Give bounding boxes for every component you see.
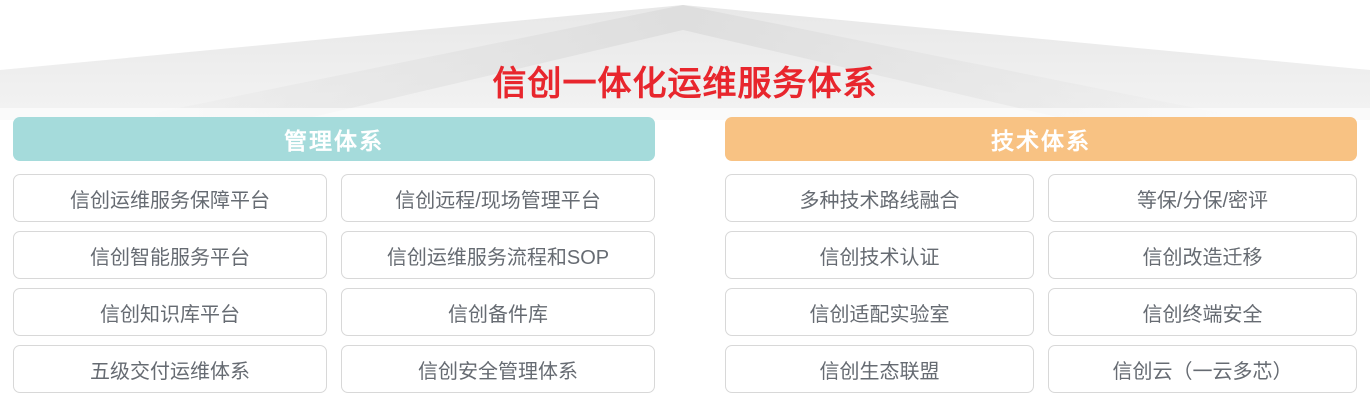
cell-item[interactable]: 信创运维服务保障平台 xyxy=(13,174,327,222)
cell-item[interactable]: 信创远程/现场管理平台 xyxy=(341,174,655,222)
cell-item[interactable]: 信创云（一云多芯） xyxy=(1048,345,1357,393)
diagram-canvas: 信创一体化运维服务体系 管理体系 信创运维服务保障平台 信创远程/现场管理平台 … xyxy=(0,0,1370,418)
cell-item[interactable]: 信创生态联盟 xyxy=(725,345,1034,393)
cell-item[interactable]: 等保/分保/密评 xyxy=(1048,174,1357,222)
cell-item[interactable]: 多种技术路线融合 xyxy=(725,174,1034,222)
group-technical: 技术体系 多种技术路线融合 等保/分保/密评 信创技术认证 信创改造迁移 信创适… xyxy=(725,117,1357,393)
cell-item[interactable]: 信创备件库 xyxy=(341,288,655,336)
cell-item[interactable]: 信创适配实验室 xyxy=(725,288,1034,336)
group-management: 管理体系 信创运维服务保障平台 信创远程/现场管理平台 信创智能服务平台 信创运… xyxy=(13,117,655,393)
cell-item[interactable]: 信创运维服务流程和SOP xyxy=(341,231,655,279)
cell-item[interactable]: 信创终端安全 xyxy=(1048,288,1357,336)
cell-item[interactable]: 信创技术认证 xyxy=(725,231,1034,279)
cell-grid-technical: 多种技术路线融合 等保/分保/密评 信创技术认证 信创改造迁移 信创适配实验室 … xyxy=(725,174,1357,393)
cell-item[interactable]: 信创安全管理体系 xyxy=(341,345,655,393)
cell-item[interactable]: 五级交付运维体系 xyxy=(13,345,327,393)
cell-grid-management: 信创运维服务保障平台 信创远程/现场管理平台 信创智能服务平台 信创运维服务流程… xyxy=(13,174,655,393)
cell-item[interactable]: 信创智能服务平台 xyxy=(13,231,327,279)
group-header-technical: 技术体系 xyxy=(725,117,1357,161)
page-title: 信创一体化运维服务体系 xyxy=(0,56,1370,105)
group-header-management: 管理体系 xyxy=(13,117,655,161)
cell-item[interactable]: 信创改造迁移 xyxy=(1048,231,1357,279)
cell-item[interactable]: 信创知识库平台 xyxy=(13,288,327,336)
